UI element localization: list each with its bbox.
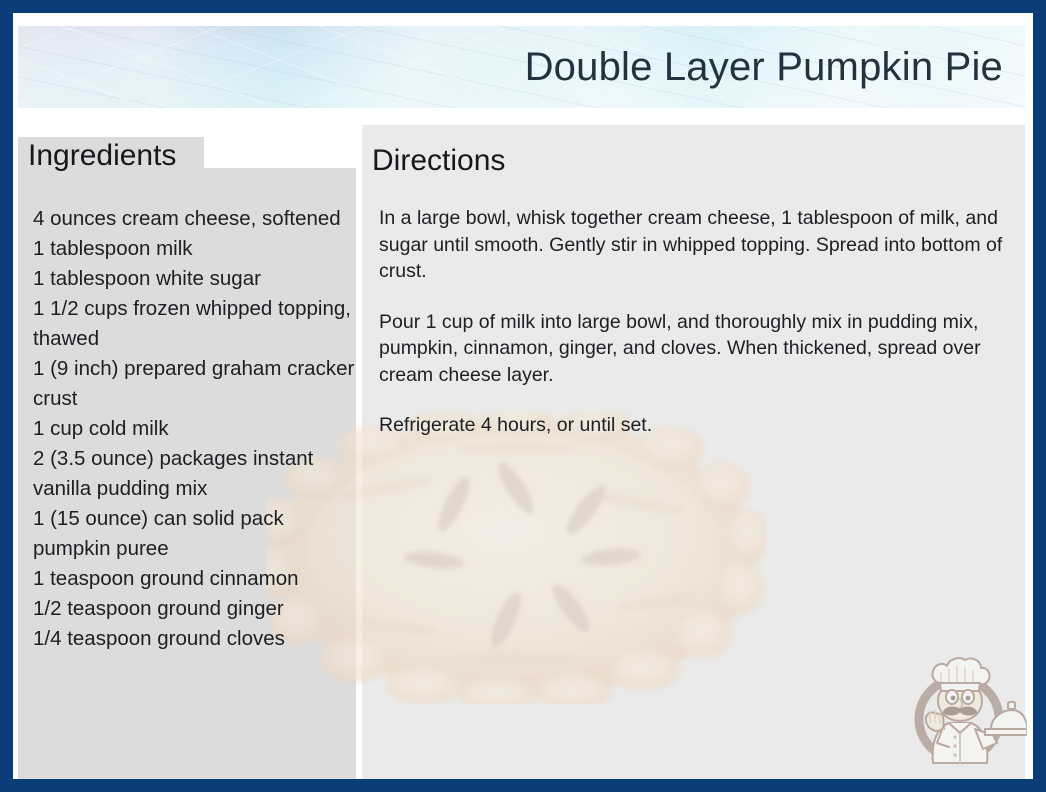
page-title: Double Layer Pumpkin Pie — [525, 46, 1003, 88]
direction-step: Pour 1 cup of milk into large bowl, and … — [379, 309, 1024, 389]
ingredient-item: 1 teaspoon ground cinnamon — [33, 564, 363, 594]
directions-heading: Directions — [372, 146, 505, 176]
tab-ingredients[interactable]: Ingredients — [18, 137, 204, 175]
card-inner: Double Layer Pumpkin Pie — [13, 13, 1033, 779]
ingredients-heading: Ingredients — [28, 141, 176, 171]
direction-step: Refrigerate 4 hours, or until set. — [379, 412, 1024, 439]
ingredient-item: 1/4 teaspoon ground cloves — [33, 624, 363, 654]
recipe-card: Double Layer Pumpkin Pie — [0, 0, 1046, 792]
ingredient-item: 1 1/2 cups frozen whipped topping, thawe… — [33, 294, 363, 354]
ingredient-item: 1/2 teaspoon ground ginger — [33, 594, 363, 624]
directions-list: In a large bowl, whisk together cream ch… — [379, 205, 1024, 439]
ingredient-item: 1 (15 ounce) can solid pack pumpkin pure… — [33, 504, 363, 564]
tab-directions[interactable]: Directions — [362, 142, 526, 179]
ingredients-list: 4 ounces cream cheese, softened1 tablesp… — [33, 204, 363, 654]
ingredient-item: 1 (9 inch) prepared graham cracker crust — [33, 354, 363, 414]
header-banner: Double Layer Pumpkin Pie — [18, 26, 1025, 108]
ingredient-item: 1 tablespoon milk — [33, 234, 363, 264]
direction-step: In a large bowl, whisk together cream ch… — [379, 205, 1024, 285]
ingredient-item: 1 cup cold milk — [33, 414, 363, 444]
ingredient-item: 4 ounces cream cheese, softened — [33, 204, 363, 234]
ingredient-item: 1 tablespoon white sugar — [33, 264, 363, 294]
ingredient-item: 2 (3.5 ounce) packages instant vanilla p… — [33, 444, 363, 504]
